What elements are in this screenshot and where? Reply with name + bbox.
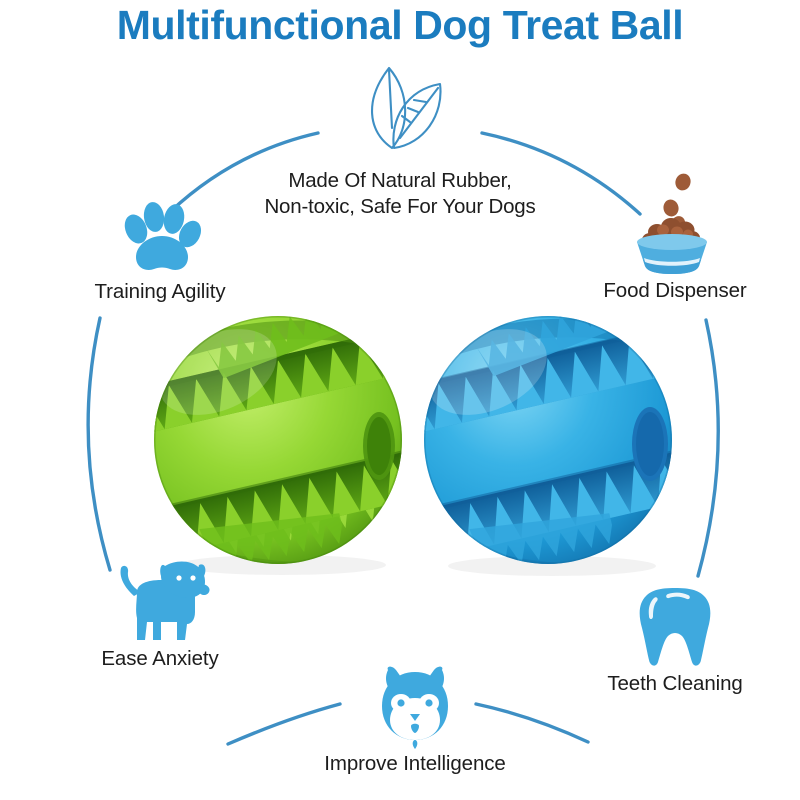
caption-line-1: Made Of Natural Rubber, — [200, 168, 600, 194]
blue-treat-ball — [394, 295, 726, 583]
feature-natural-rubber — [330, 62, 470, 154]
dog-face-icon — [370, 664, 460, 750]
feature-label-food-dispenser: Food Dispenser — [555, 279, 795, 303]
feature-ease-anxiety: Ease Anxiety — [40, 556, 280, 671]
feature-label-training-agility: Training Agility — [40, 280, 280, 304]
paw-print-icon — [118, 202, 202, 278]
feature-training-agility: Training Agility — [40, 202, 280, 304]
dog-standing-icon — [107, 556, 213, 644]
feature-improve-intelligence: Improve Intelligence — [300, 664, 530, 776]
feature-label-ease-anxiety: Ease Anxiety — [40, 647, 280, 671]
feature-teeth-cleaning: Teeth Cleaning — [555, 584, 795, 696]
infographic-canvas: Multifunctional Dog Treat Ball — [0, 0, 800, 800]
feature-label-teeth-cleaning: Teeth Cleaning — [555, 672, 795, 696]
green-treat-ball — [125, 297, 456, 581]
feature-label-improve-intelligence: Improve Intelligence — [300, 752, 530, 776]
leaf-icon — [340, 62, 460, 154]
food-bowl-icon — [619, 170, 731, 278]
tooth-icon — [634, 584, 716, 670]
feature-food-dispenser: Food Dispenser — [555, 170, 795, 303]
